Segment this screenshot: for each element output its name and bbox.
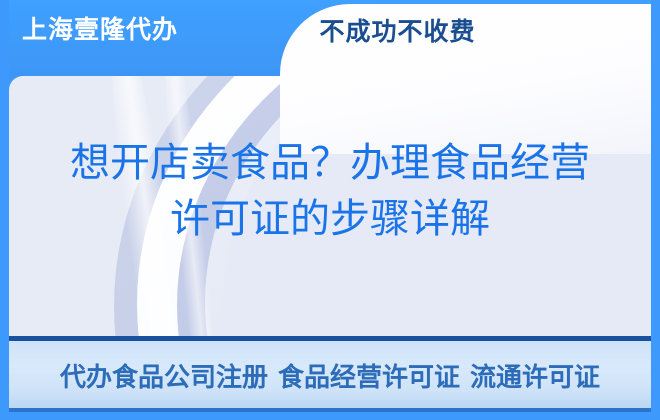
frame-rail-left [0, 0, 9, 420]
keyword-bar: 代办食品公司注册食品经营许可证流通许可证 [9, 336, 651, 414]
headline: 想开店卖食品？办理食品经营 许可证的步骤详解 [9, 135, 651, 247]
frame-rail-right [651, 0, 660, 420]
keyword-bar-bottom-rule [9, 408, 651, 412]
keyword-list: 代办食品公司注册食品经营许可证流通许可证 [60, 357, 600, 394]
keyword-bar-surface: 代办食品公司注册食品经营许可证流通许可证 [9, 341, 651, 409]
headline-line-1: 想开店卖食品？办理食品经营 [9, 135, 651, 191]
keyword-item-2[interactable]: 食品经营许可证 [278, 362, 460, 392]
promo-banner: 上海壹隆代办 不成功不收费 想开店卖食品？办理食品经营 许可证的步骤详解 代办食… [0, 0, 660, 420]
keyword-item-1[interactable]: 代办食品公司注册 [60, 362, 268, 392]
headline-line-2: 许可证的步骤详解 [9, 191, 651, 247]
header-slogan: 不成功不收费 [0, 20, 660, 45]
keyword-item-3[interactable]: 流通许可证 [470, 362, 600, 392]
